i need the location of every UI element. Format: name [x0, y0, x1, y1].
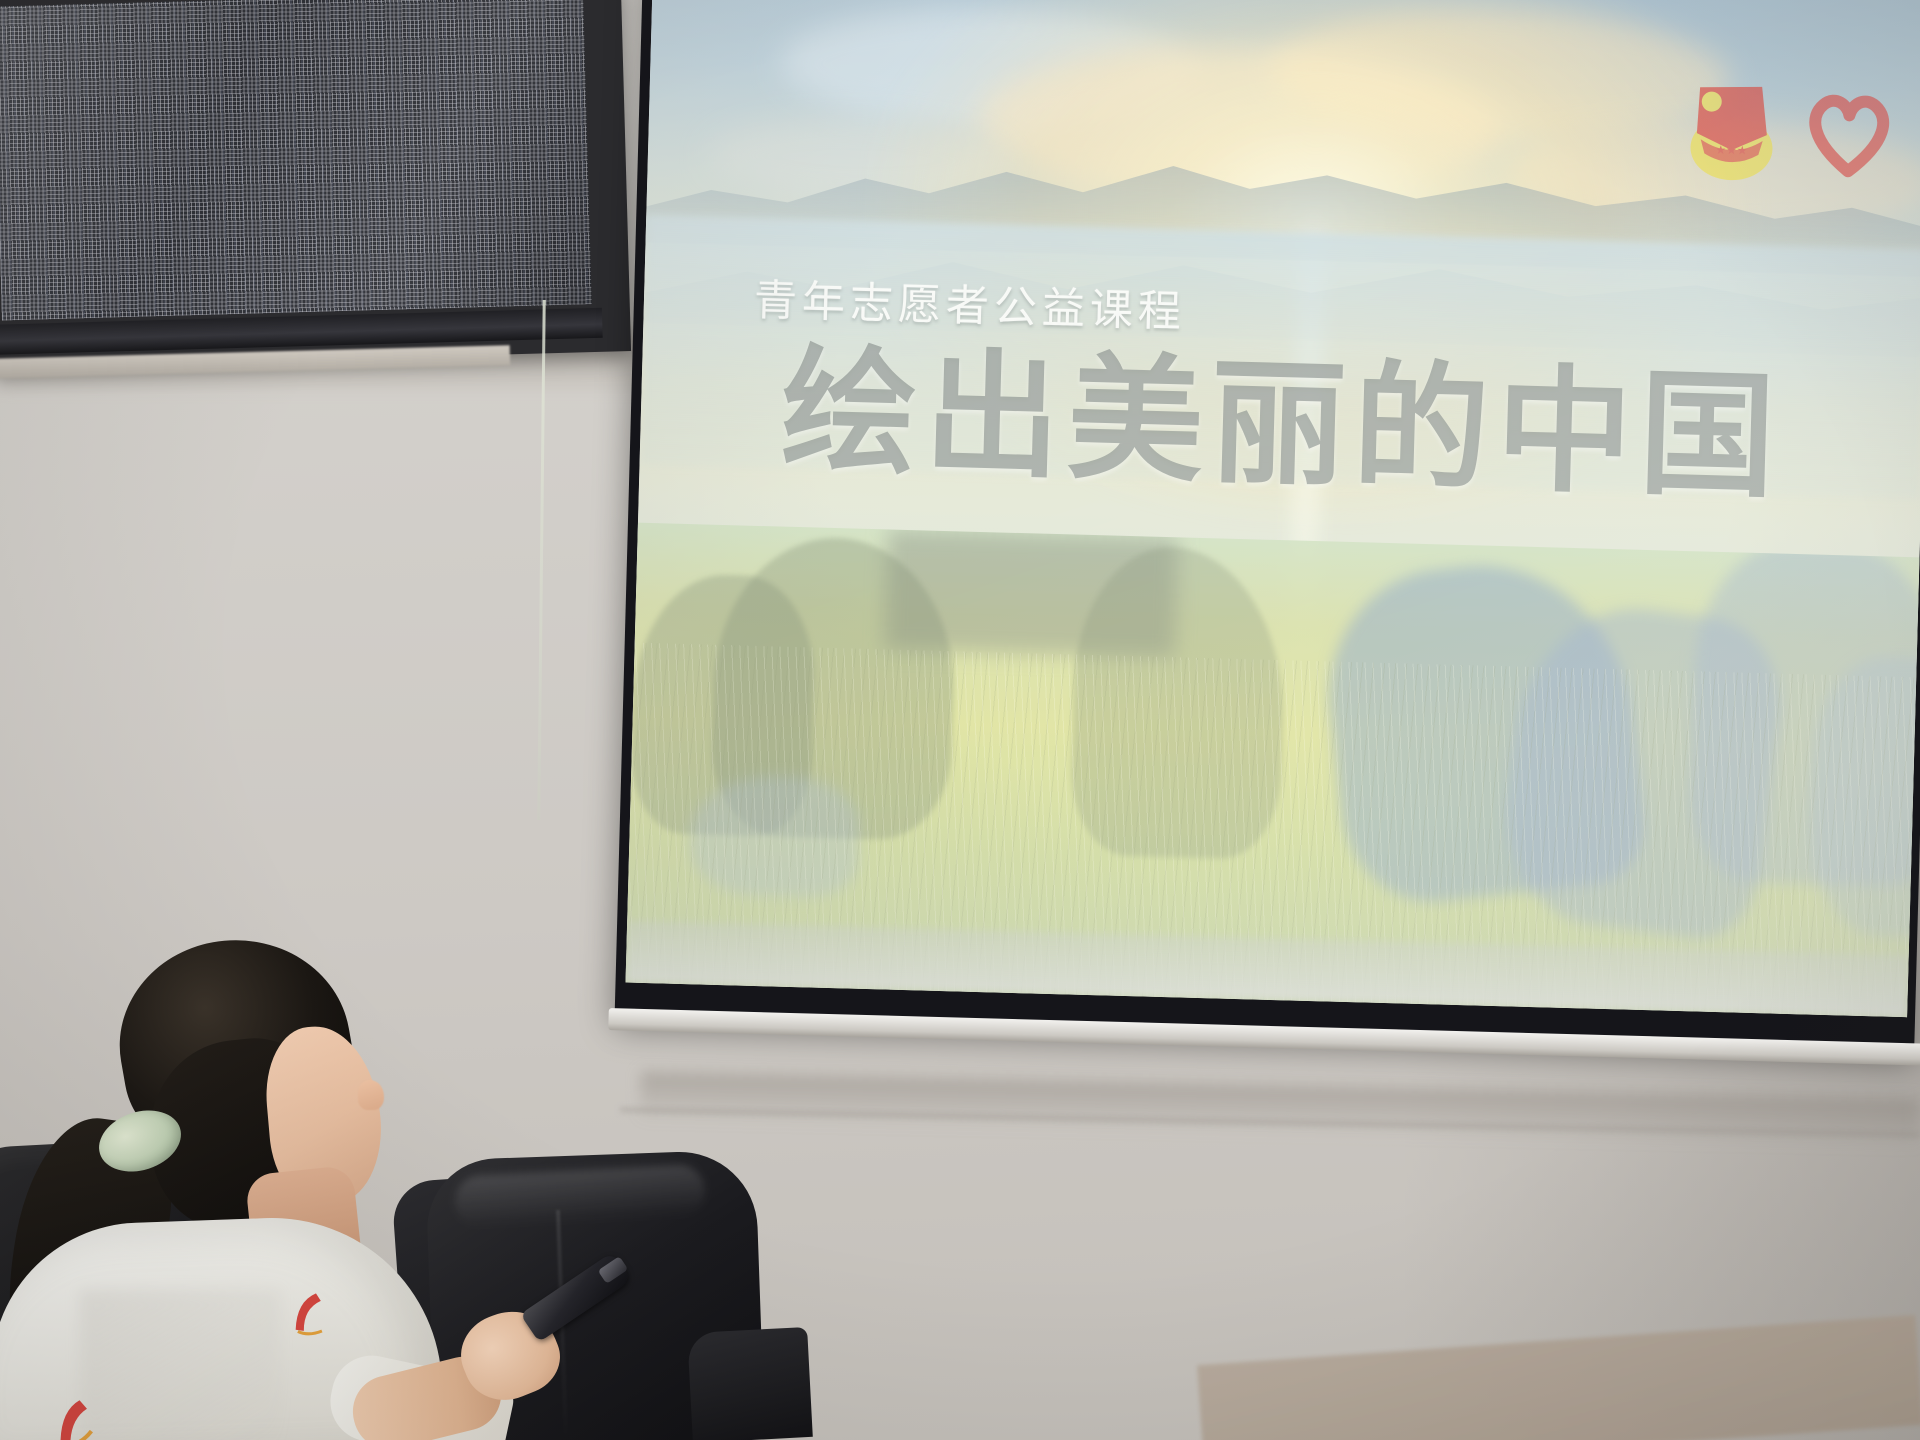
nose	[358, 1080, 384, 1110]
window-frame	[0, 0, 631, 369]
shirt-sleeve-logo	[52, 1395, 100, 1440]
classroom-presentation-scene: ★★★ 青年志愿者公益课程 绘出美丽的中国	[0, 0, 1920, 1440]
slide-foreground-landscape	[626, 523, 1920, 1018]
screen-surface: ★★★ 青年志愿者公益课程 绘出美丽的中国	[626, 0, 1920, 1017]
china-youth-volunteers-logo: ★★★	[1688, 77, 1777, 183]
slide-subtitle: 青年志愿者公益课程	[753, 266, 1187, 340]
chair-armrest	[687, 1327, 813, 1440]
projection-screen: ★★★ 青年志愿者公益课程 绘出美丽的中国	[613, 0, 1920, 1097]
svg-text:★★★: ★★★	[1715, 143, 1748, 158]
shirt-volunteer-logo	[286, 1286, 337, 1341]
red-heart-logo	[1800, 84, 1899, 183]
shirt-fold	[80, 1290, 280, 1440]
slide: ★★★ 青年志愿者公益课程 绘出美丽的中国	[626, 0, 1920, 1017]
slide-title: 绘出美丽的中国	[780, 339, 1785, 510]
blind-sheen	[0, 0, 592, 321]
roller-blind[interactable]	[0, 0, 592, 321]
slide-logo-group: ★★★	[1688, 77, 1899, 187]
